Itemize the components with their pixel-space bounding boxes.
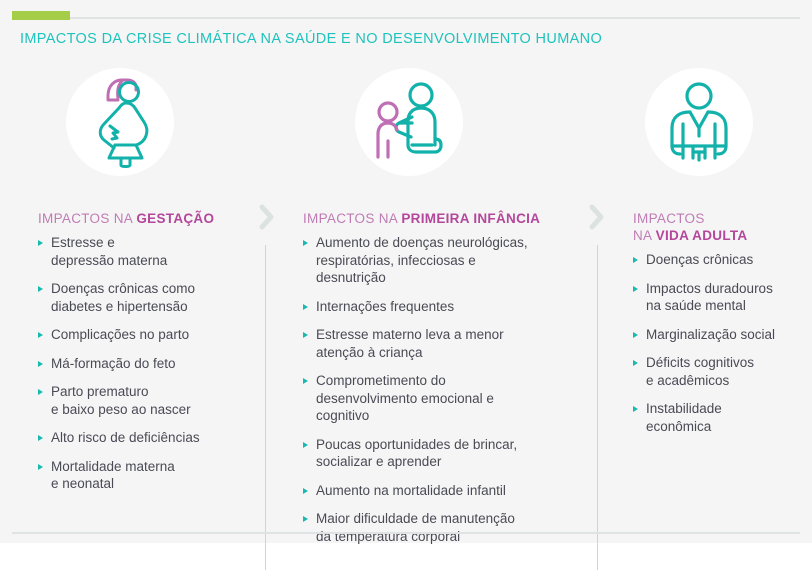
list-item: Comprometimento dodesenvolvimento emocio… [303, 372, 575, 425]
list-item: Doenças crônicas [633, 251, 795, 269]
list-item: Poucas oportunidades de brincar,socializ… [303, 436, 575, 471]
green-accent-bar [12, 11, 70, 20]
impact-list-primeira-infancia: Aumento de doenças neurológicas,respirat… [303, 234, 575, 556]
list-item: Instabilidadeeconômica [633, 400, 795, 435]
list-item: Estresse materno leva a menoratenção à c… [303, 326, 575, 361]
column-divider [597, 245, 598, 570]
list-item: Doenças crônicas comodiabetes e hiperten… [38, 280, 255, 315]
column-primeira-infancia: IMPACTOS NA PRIMEIRA INFÂNCIA Aumento de… [285, 60, 575, 520]
column-heading-vida-adulta: IMPACTOSNA VIDA ADULTA [633, 210, 747, 244]
pregnant-woman-icon [66, 68, 174, 176]
column-divider [265, 245, 266, 570]
column-gestacao: IMPACTOS NA GESTAÇÃO Estresse edepressão… [20, 60, 255, 520]
list-item: Estresse edepressão materna [38, 234, 255, 269]
adult-kneeling-with-child-icon [355, 68, 463, 176]
columns-container: IMPACTOS NA GESTAÇÃO Estresse edepressão… [0, 60, 812, 520]
column-heading-prefix: IMPACTOS NA [38, 211, 136, 226]
column-heading-strong: VIDA ADULTA [656, 228, 748, 243]
bottom-divider-rule [12, 532, 800, 534]
impact-list-gestacao: Estresse edepressão materna Doenças crôn… [38, 234, 255, 504]
column-heading-primeira-infancia: IMPACTOS NA PRIMEIRA INFÂNCIA [303, 210, 540, 227]
list-item: Mortalidade maternae neonatal [38, 458, 255, 493]
list-item: Aumento de doenças neurológicas,respirat… [303, 234, 575, 287]
chevron-right-icon [588, 202, 606, 232]
list-item: Aumento na mortalidade infantil [303, 482, 575, 500]
list-item: Internações frequentes [303, 298, 575, 316]
column-heading-strong: PRIMEIRA INFÂNCIA [401, 211, 540, 226]
list-item: Impactos duradourosna saúde mental [633, 280, 795, 315]
list-item: Complicações no parto [38, 326, 255, 344]
infographic-root: IMPACTOS DA CRISE CLIMÁTICA NA SAÚDE E N… [0, 0, 812, 543]
page-title: IMPACTOS DA CRISE CLIMÁTICA NA SAÚDE E N… [20, 31, 602, 47]
list-item: Parto prematuroe baixo peso ao nascer [38, 383, 255, 418]
chevron-right-icon [258, 202, 276, 232]
list-item: Marginalização social [633, 326, 795, 344]
list-item: Má-formação do feto [38, 355, 255, 373]
top-divider-rule [12, 17, 800, 19]
list-item: Déficits cognitivose acadêmicos [633, 354, 795, 389]
column-heading-strong: GESTAÇÃO [136, 211, 214, 226]
adult-person-icon [645, 68, 753, 176]
list-item: Alto risco de deficiências [38, 429, 255, 447]
impact-list-vida-adulta: Doenças crônicas Impactos duradourosna s… [633, 251, 795, 446]
column-heading-gestacao: IMPACTOS NA GESTAÇÃO [38, 210, 214, 227]
column-heading-prefix: IMPACTOS NA [303, 211, 401, 226]
list-item: Maior dificuldade de manutençãoda temper… [303, 510, 575, 545]
column-vida-adulta: IMPACTOSNA VIDA ADULTA Doenças crônicas … [615, 60, 795, 520]
